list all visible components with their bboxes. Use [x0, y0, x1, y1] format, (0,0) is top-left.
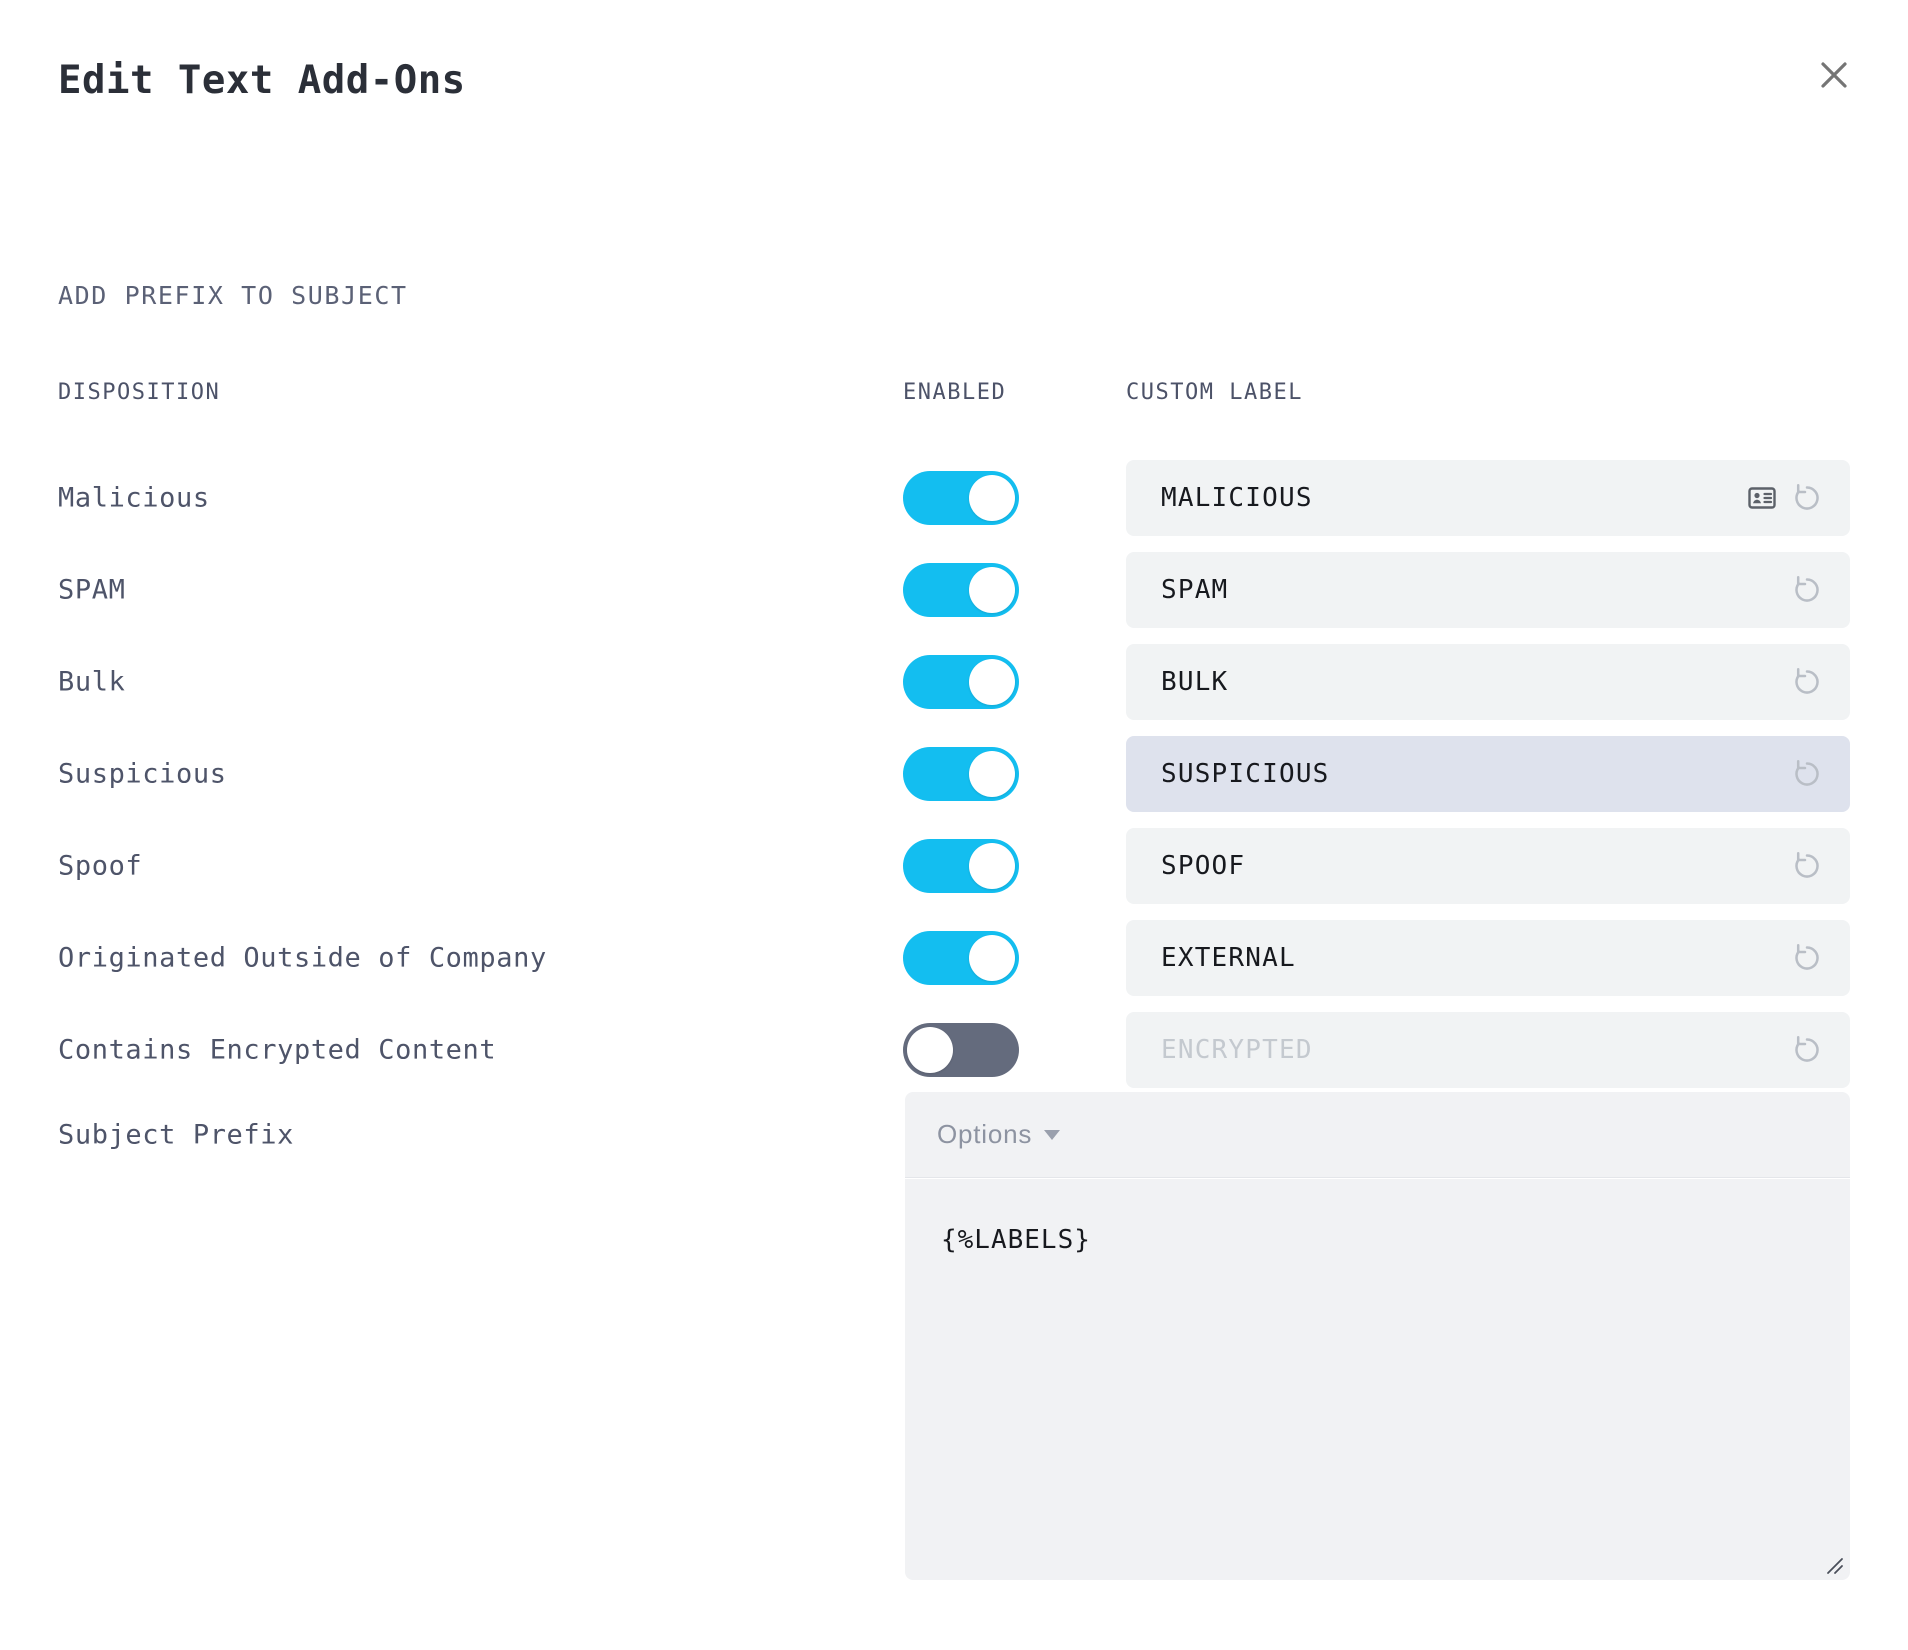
field-icon-group [1790, 665, 1850, 699]
field-icon-group [1790, 941, 1850, 975]
custom-label-input[interactable]: EXTERNAL [1126, 920, 1850, 996]
reset-icon[interactable] [1790, 573, 1824, 607]
options-dropdown-label: Options [937, 1119, 1032, 1150]
custom-label-value: BULK [1126, 667, 1790, 697]
field-icon-group [1790, 573, 1850, 607]
table-row: MaliciousMALICIOUS [0, 452, 1908, 544]
reset-icon[interactable] [1790, 941, 1824, 975]
enabled-toggle[interactable] [903, 931, 1019, 985]
field-icon-group [1748, 481, 1850, 515]
close-button[interactable] [1807, 48, 1861, 102]
table-row: BulkBULK [0, 636, 1908, 728]
enabled-toggle[interactable] [903, 471, 1019, 525]
disposition-label: Bulk [58, 667, 125, 698]
disposition-label: Spoof [58, 851, 142, 882]
disposition-label: Malicious [58, 483, 210, 514]
dialog-header: Edit Text Add-Ons [0, 0, 1908, 150]
disposition-label: Contains Encrypted Content [58, 1035, 496, 1066]
reset-icon[interactable] [1790, 481, 1824, 515]
table-row: Originated Outside of CompanyEXTERNAL [0, 912, 1908, 1004]
toggle-knob [969, 843, 1015, 889]
table-header-row: DISPOSITION ENABLED CUSTOM LABEL [0, 380, 1908, 420]
close-icon [1819, 60, 1849, 90]
reset-icon[interactable] [1790, 665, 1824, 699]
section-heading: ADD PREFIX TO SUBJECT [58, 281, 408, 310]
enabled-toggle[interactable] [903, 747, 1019, 801]
toggle-knob [969, 659, 1015, 705]
page-title: Edit Text Add-Ons [58, 58, 466, 103]
subject-prefix-textarea-value: {%LABELS} [941, 1225, 1091, 1255]
reset-icon[interactable] [1790, 1033, 1824, 1067]
custom-label-input[interactable]: ENCRYPTED [1126, 1012, 1850, 1088]
enabled-toggle[interactable] [903, 563, 1019, 617]
enabled-toggle[interactable] [903, 1023, 1019, 1077]
options-dropdown-button[interactable]: Options [937, 1119, 1060, 1150]
field-icon-group [1790, 757, 1850, 791]
column-header-custom-label: CUSTOM LABEL [1126, 380, 1303, 405]
custom-label-value: SPOOF [1126, 851, 1790, 881]
options-toolbar: Options [905, 1092, 1850, 1178]
column-header-enabled: ENABLED [903, 380, 1006, 405]
disposition-label: Suspicious [58, 759, 227, 790]
toggle-knob [969, 567, 1015, 613]
toggle-knob [907, 1027, 953, 1073]
reset-icon[interactable] [1790, 757, 1824, 791]
column-header-disposition: DISPOSITION [58, 380, 220, 405]
custom-label-input[interactable]: SPAM [1126, 552, 1850, 628]
chevron-down-icon [1044, 1130, 1060, 1140]
resize-grip-icon[interactable] [1822, 1553, 1844, 1575]
custom-label-value: SUSPICIOUS [1126, 759, 1790, 789]
reset-icon[interactable] [1790, 849, 1824, 883]
custom-label-input[interactable]: MALICIOUS [1126, 460, 1850, 536]
edit-text-addons-dialog: Edit Text Add-Ons ADD PREFIX TO SUBJECT … [0, 0, 1908, 1650]
subject-prefix-label: Subject Prefix [58, 1120, 294, 1151]
enabled-toggle[interactable] [903, 655, 1019, 709]
contact-card-icon[interactable] [1748, 484, 1776, 512]
table-row: Contains Encrypted ContentENCRYPTED [0, 1004, 1908, 1096]
custom-label-value: SPAM [1126, 575, 1790, 605]
subject-prefix-textarea[interactable]: {%LABELS} [905, 1179, 1850, 1580]
disposition-label: SPAM [58, 575, 125, 606]
toggle-knob [969, 475, 1015, 521]
table-row: SPAMSPAM [0, 544, 1908, 636]
table-row: SpoofSPOOF [0, 820, 1908, 912]
enabled-toggle[interactable] [903, 839, 1019, 893]
toggle-knob [969, 751, 1015, 797]
disposition-label: Originated Outside of Company [58, 943, 547, 974]
custom-label-input[interactable]: BULK [1126, 644, 1850, 720]
disposition-rows: MaliciousMALICIOUSSPAMSPAMBulkBULKSuspic… [0, 452, 1908, 1096]
custom-label-value: ENCRYPTED [1126, 1035, 1790, 1065]
field-icon-group [1790, 1033, 1850, 1067]
table-row: SuspiciousSUSPICIOUS [0, 728, 1908, 820]
custom-label-value: EXTERNAL [1126, 943, 1790, 973]
custom-label-value: MALICIOUS [1126, 483, 1748, 513]
toggle-knob [969, 935, 1015, 981]
custom-label-input[interactable]: SPOOF [1126, 828, 1850, 904]
custom-label-input[interactable]: SUSPICIOUS [1126, 736, 1850, 812]
field-icon-group [1790, 849, 1850, 883]
